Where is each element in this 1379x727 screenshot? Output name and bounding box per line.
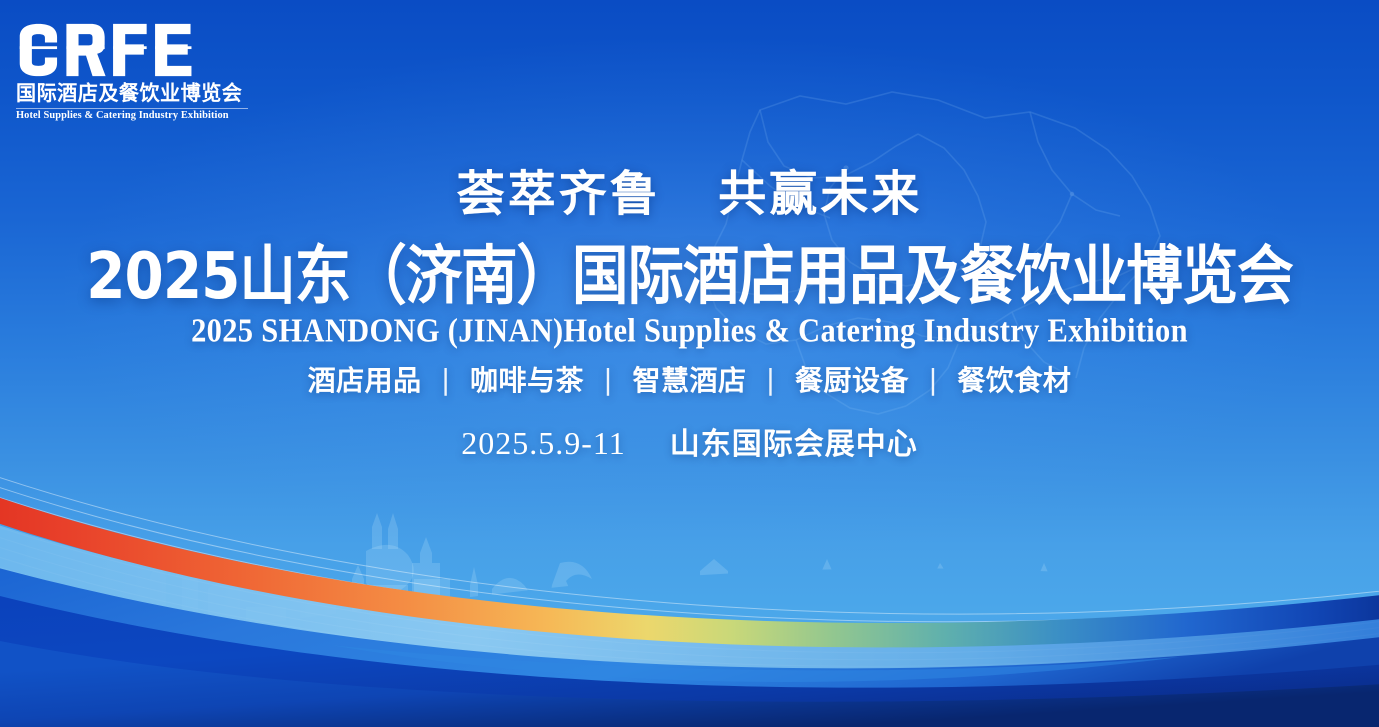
- slogan: 荟萃齐鲁 共赢未来: [0, 170, 1379, 218]
- wave-sheen: [330, 645, 1180, 682]
- category-item-3: 餐厨设备: [795, 364, 909, 397]
- crfe-wordmark-icon: [16, 22, 248, 78]
- slogan-part-1: 荟萃齐鲁: [457, 166, 661, 222]
- category-item-2: 智慧酒店: [632, 364, 746, 397]
- event-venue: 山东国际会展中心: [670, 427, 918, 462]
- category-list: 酒店用品 | 咖啡与茶 | 智慧酒店 | 餐厨设备 | 餐饮食材: [0, 367, 1379, 395]
- logo-name-en: Hotel Supplies & Catering Industry Exhib…: [16, 110, 246, 121]
- wave-mid: [0, 563, 1379, 727]
- slogan-part-2: 共赢未来: [718, 166, 922, 222]
- category-separator-0: |: [432, 366, 460, 394]
- category-separator-1: |: [594, 366, 622, 394]
- category-item-1: 咖啡与茶: [470, 364, 584, 397]
- wave-dark: [0, 637, 1379, 727]
- wave-deep: [0, 591, 1379, 727]
- wave-color-ribbon: [0, 491, 1379, 647]
- category-item-4: 餐饮食材: [957, 364, 1071, 397]
- event-banner: 国际酒店及餐饮业博览会 Hotel Supplies & Catering In…: [0, 0, 1379, 727]
- logo-name-cn: 国际酒店及餐饮业博览会: [16, 82, 243, 106]
- wave-light-band: [0, 519, 1379, 727]
- category-separator-3: |: [919, 366, 947, 394]
- event-date: 2025.5.9-11: [461, 425, 625, 461]
- wave-decoration: [0, 467, 1379, 727]
- skyline-silhouette: [150, 513, 1080, 625]
- event-title-cn: 2025山东（济南）国际酒店用品及餐饮业博览会: [7, 244, 1372, 310]
- crfe-logo: 国际酒店及餐饮业博览会 Hotel Supplies & Catering In…: [16, 22, 248, 121]
- category-separator-2: |: [757, 366, 785, 394]
- category-item-0: 酒店用品: [308, 364, 422, 397]
- event-title-en: 2025 SHANDONG (JINAN)Hotel Supplies & Ca…: [0, 314, 1379, 348]
- banner-content: 荟萃齐鲁 共赢未来 2025山东（济南）国际酒店用品及餐饮业博览会 2025 S…: [0, 170, 1379, 460]
- event-info: 2025.5.9-11 山东国际会展中心: [0, 427, 1379, 460]
- arc-lines: [0, 471, 1379, 711]
- logo-divider: [16, 108, 248, 109]
